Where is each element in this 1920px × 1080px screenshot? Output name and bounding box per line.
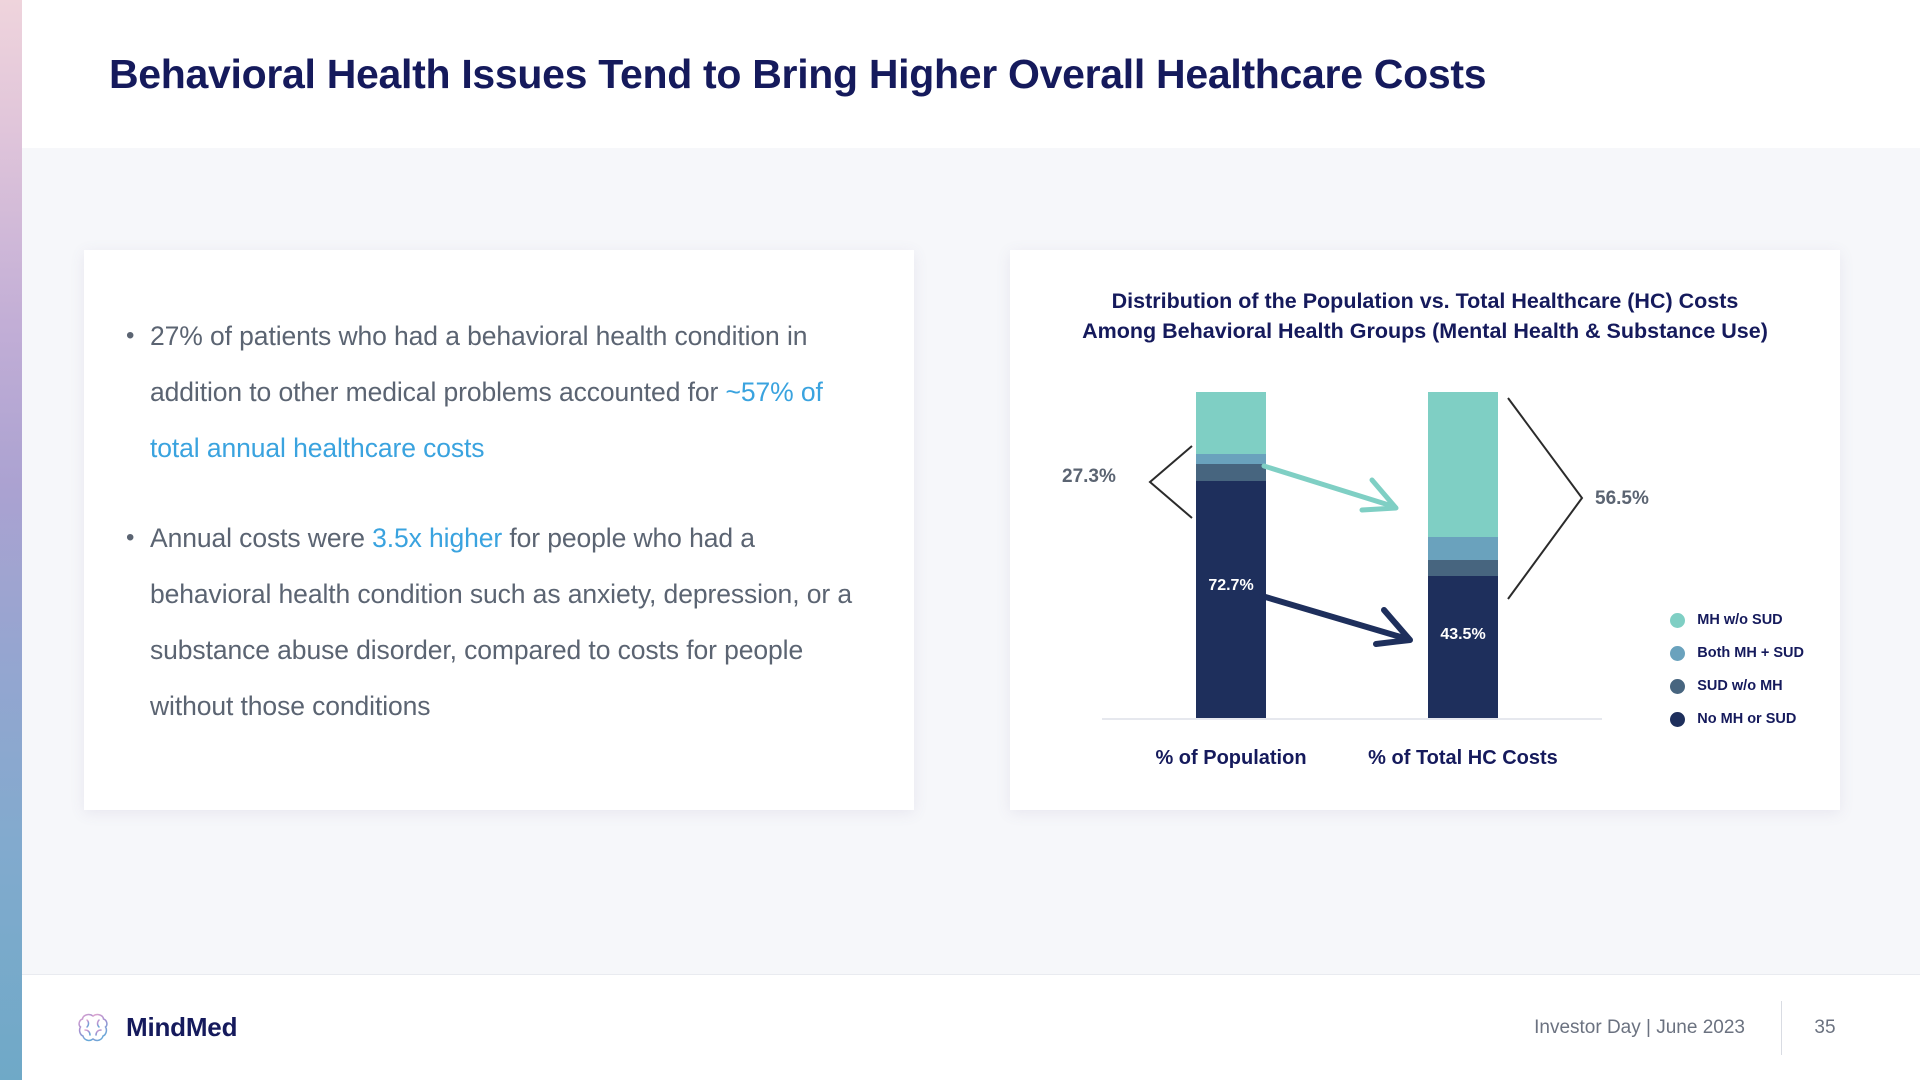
- legend-item-both-mh-sud[interactable]: Both MH + SUD: [1670, 645, 1804, 661]
- chart-title-line-1: Distribution of the Population vs. Total…: [1038, 286, 1812, 316]
- legend-item-sud-wo-mh[interactable]: SUD w/o MH: [1670, 678, 1804, 694]
- slide-root: Behavioral Health Issues Tend to Bring H…: [0, 0, 1920, 1080]
- bar-population[interactable]: 72.7%: [1196, 392, 1266, 718]
- bar-value-label: 72.7%: [1196, 577, 1266, 595]
- x-axis-label-population: % of Population: [1131, 747, 1331, 770]
- legend-item-mh-wo-sud[interactable]: MH w/o SUD: [1670, 612, 1804, 628]
- chart-legend: MH w/o SUD Both MH + SUD SUD w/o MH No M…: [1670, 612, 1804, 727]
- key-takeaways-card: • 27% of patients who had a behavioral h…: [84, 250, 914, 810]
- chart-card: Distribution of the Population vs. Total…: [1010, 250, 1840, 810]
- legend-swatch-icon: [1670, 646, 1685, 661]
- bar-total-hc-costs[interactable]: 43.5%: [1428, 392, 1498, 718]
- brand-logo: MindMed: [74, 1009, 237, 1047]
- bar-segment-mh-wo-sud: [1428, 392, 1498, 537]
- legend-label: SUD w/o MH: [1697, 678, 1782, 694]
- legend-label: Both MH + SUD: [1697, 645, 1804, 661]
- page-title: Behavioral Health Issues Tend to Bring H…: [109, 51, 1486, 98]
- slide-footer: MindMed Investor Day | June 2023 35: [22, 974, 1920, 1080]
- footer-right-group: Investor Day | June 2023 35: [1534, 975, 1868, 1080]
- footer-event-meta: Investor Day | June 2023: [1534, 1017, 1781, 1039]
- bar-segment-no-mh-or-sud: 72.7%: [1196, 481, 1266, 718]
- bar-segment-no-mh-or-sud: 43.5%: [1428, 576, 1498, 718]
- teal-growth-arrow-icon: [1260, 458, 1420, 518]
- bullet-dot-icon: •: [126, 308, 150, 476]
- bullet-highlight: 3.5x higher: [372, 523, 502, 553]
- page-number: 35: [1782, 1017, 1868, 1039]
- bullet-text: 27% of patients who had a behavioral hea…: [150, 308, 860, 476]
- bar-segment-both-mh-sud: [1196, 454, 1266, 464]
- bullet-text-pre: Annual costs were: [150, 523, 372, 553]
- annotation-56-5-percent: 56.5%: [1595, 488, 1649, 510]
- list-item: • Annual costs were 3.5x higher for peop…: [126, 510, 860, 734]
- navy-decline-arrow-icon: [1258, 590, 1434, 650]
- bullet-text: Annual costs were 3.5x higher for people…: [150, 510, 860, 734]
- brand-name: MindMed: [126, 1012, 237, 1043]
- legend-swatch-icon: [1670, 679, 1685, 694]
- annotation-27-3-percent: 27.3%: [1062, 466, 1116, 488]
- left-bracket-icon: [1140, 442, 1198, 522]
- legend-label: MH w/o SUD: [1697, 612, 1782, 628]
- x-axis-line: [1102, 718, 1602, 720]
- stacked-bar-chart: 72.7% 43.5% % of Population % of Total H…: [1010, 346, 1840, 806]
- bullet-text-pre: 27% of patients who had a behavioral hea…: [150, 321, 807, 407]
- bullet-dot-icon: •: [126, 510, 150, 734]
- bar-segment-sud-wo-mh: [1428, 560, 1498, 576]
- slide-header: Behavioral Health Issues Tend to Bring H…: [22, 0, 1920, 148]
- bar-value-label: 43.5%: [1428, 626, 1498, 644]
- list-item: • 27% of patients who had a behavioral h…: [126, 308, 860, 476]
- brain-icon: [74, 1009, 112, 1047]
- left-gradient-accent-stripe: [0, 0, 22, 1080]
- bar-segment-mh-wo-sud: [1196, 392, 1266, 454]
- chart-title-line-2: Among Behavioral Health Groups (Mental H…: [1038, 316, 1812, 346]
- legend-label: No MH or SUD: [1697, 711, 1796, 727]
- bar-segment-both-mh-sud: [1428, 537, 1498, 560]
- legend-item-no-mh-or-sud[interactable]: No MH or SUD: [1670, 711, 1804, 727]
- bullet-list: • 27% of patients who had a behavioral h…: [84, 250, 914, 734]
- chart-title: Distribution of the Population vs. Total…: [1010, 286, 1840, 346]
- legend-swatch-icon: [1670, 712, 1685, 727]
- slide-body: • 27% of patients who had a behavioral h…: [22, 148, 1920, 974]
- bar-segment-sud-wo-mh: [1196, 464, 1266, 481]
- legend-swatch-icon: [1670, 613, 1685, 628]
- right-bracket-icon: [1502, 394, 1590, 604]
- x-axis-label-hc-costs: % of Total HC Costs: [1358, 747, 1568, 770]
